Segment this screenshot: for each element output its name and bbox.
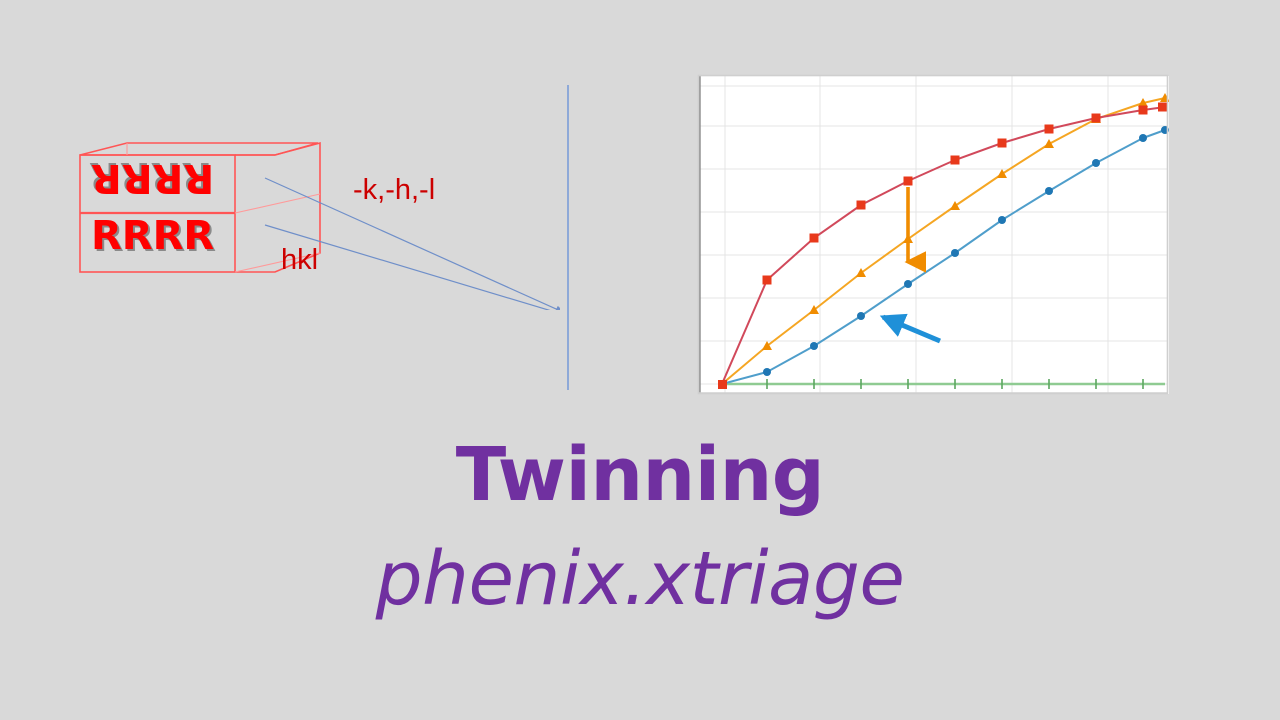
chart-svg <box>697 74 1169 396</box>
slide-subtitle: phenix.xtriage <box>0 536 1280 622</box>
slide-title: Twinning <box>0 432 1280 518</box>
original-index-label: hkl <box>281 245 318 275</box>
twin-lattice-diagram: RRRR RRRR -k,-h,-l hkl <box>60 125 560 310</box>
original-domain-letters: RRRR <box>91 216 214 256</box>
slide-canvas: RRRR RRRR -k,-h,-l hkl <box>0 0 1280 720</box>
twin-index-label: -k,-h,-l <box>353 175 435 205</box>
twin-domain-letters: RRRR <box>91 158 214 198</box>
cumulative-intensity-chart <box>697 74 1169 396</box>
vertical-divider-line <box>567 85 569 390</box>
